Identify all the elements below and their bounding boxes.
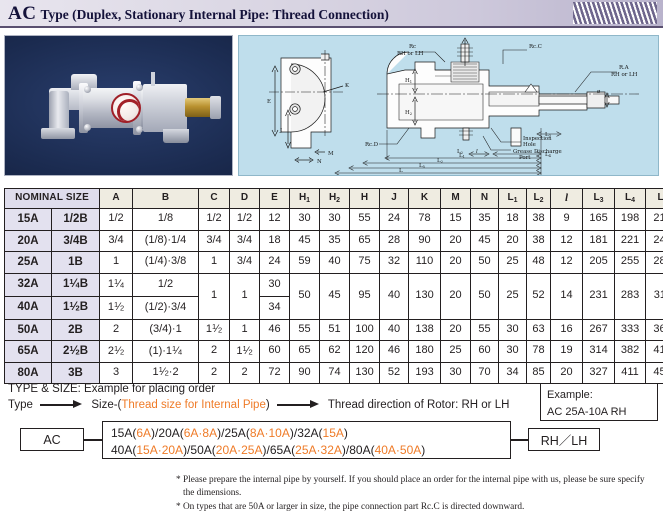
page-title-text: Type (Duplex, Stationary Internal Pipe: …	[40, 7, 388, 22]
drawing-label-k: K	[345, 83, 350, 89]
col-header-e: E	[260, 189, 290, 209]
size-bore: 20A·25A	[216, 443, 263, 457]
drawing-label-j: J	[279, 128, 282, 134]
col-header-h2: H2	[320, 189, 350, 209]
cell-b: (1)·11⁄4	[133, 341, 199, 363]
drawing-label-l1: L1	[459, 153, 465, 159]
cell-m: 30	[441, 362, 471, 384]
order-size-line-2: 40A(15A·20A)/50A(20A·25A)/65A(25A·32A)/8…	[111, 442, 510, 459]
cell-j: 46	[380, 341, 409, 363]
cell-k: 193	[409, 362, 441, 384]
cell-j: 40	[380, 319, 409, 341]
cell-nominal-b: 11⁄2B	[52, 296, 100, 319]
order-type-box: AC	[20, 428, 84, 451]
cell-k: 78	[409, 209, 441, 231]
arrow-right-icon	[277, 400, 321, 409]
product-photo	[4, 35, 233, 176]
cell-l5: 419	[646, 341, 663, 363]
cell-c: 1	[199, 252, 230, 274]
table-body: 15A 1/2B 1/2 1/8 1/2 1/2 12 30 30 55 24 …	[5, 209, 663, 384]
drawing-label-l2: L2	[437, 158, 443, 164]
size-bore: 40A·50A	[375, 443, 422, 457]
size-item: 25A	[224, 426, 245, 440]
cell-b: 1/2	[133, 273, 199, 296]
cell-d: 3/4	[230, 230, 260, 252]
cell-ell: 14	[551, 273, 583, 319]
cell-e: 34	[260, 296, 290, 319]
order-section-title: TYPE & SIZE: Example for placing order	[8, 383, 215, 395]
col-header-a: A	[100, 189, 133, 209]
size-bore: 15A·20A	[136, 443, 183, 457]
cell-b: 11⁄2·2	[133, 362, 199, 384]
drawing-label-m: M	[328, 151, 334, 157]
cell-l3: 231	[583, 273, 615, 319]
photo-bolt	[136, 84, 143, 91]
cell-k: 90	[409, 230, 441, 252]
photo-rear-body	[143, 84, 187, 132]
order-flow-size-prefix: Size-(	[91, 399, 121, 411]
order-flow-size-suffix: )	[266, 399, 270, 411]
cell-l5: 311	[646, 273, 663, 319]
cell-l1: 34	[499, 362, 527, 384]
cell-nominal-b: 1/2B	[52, 209, 100, 231]
cell-l2: 63	[527, 319, 551, 341]
page-header: AC Type (Duplex, Stationary Internal Pip…	[0, 0, 663, 28]
cell-l4: 411	[615, 362, 646, 384]
cell-e: 60	[260, 341, 290, 363]
cell-e: 18	[260, 230, 290, 252]
cell-a: 1	[100, 252, 133, 274]
cell-nominal-a: 25A	[5, 252, 52, 274]
cell-b: 1/8	[133, 209, 199, 231]
col-header-h1: H1	[290, 189, 320, 209]
cell-nominal-b: 21⁄2B	[52, 341, 100, 363]
cell-e: 72	[260, 362, 290, 384]
cell-e: 30	[260, 273, 290, 296]
example-value: AC 25A-10A RH	[547, 404, 657, 421]
size-bore: 15A	[323, 426, 344, 440]
cell-nominal-a: 20A	[5, 230, 52, 252]
drawing-label-rc: Rc	[409, 44, 416, 50]
cell-j: 32	[380, 252, 409, 274]
size-item: 50A	[190, 443, 211, 457]
drawing-label-rc-rh-lh: RH or LH	[397, 51, 424, 57]
cell-h: 130	[350, 362, 380, 384]
cell-h: 95	[350, 273, 380, 319]
cell-j: 40	[380, 273, 409, 319]
cell-l3: 267	[583, 319, 615, 341]
cell-j: 52	[380, 362, 409, 384]
technical-drawing: K E J M N Rc.C Rc RH or LH Rc.D R.A RH o…	[238, 35, 659, 176]
cell-b: (1/2)·3/4	[133, 296, 199, 319]
cell-b: (3/4)·1	[133, 319, 199, 341]
cell-l2: 38	[527, 230, 551, 252]
cell-l2: 52	[527, 273, 551, 319]
cell-h1: 50	[290, 273, 320, 319]
cell-l2: 78	[527, 341, 551, 363]
cell-a: 11⁄4	[100, 273, 133, 296]
table-row: 32A 11⁄4B 11⁄4 1/2 1 1 30 50 45 95 40 13…	[5, 273, 663, 296]
drawing-label-e: E	[267, 99, 271, 105]
cell-l5: 280	[646, 252, 663, 274]
size-bore: 6A·8A	[184, 426, 217, 440]
cell-a: 21⁄2	[100, 341, 133, 363]
cell-a: 3/4	[100, 230, 133, 252]
col-header-l3: L3	[583, 189, 615, 209]
cell-nominal-b: 11⁄4B	[52, 273, 100, 296]
photo-grease-pin	[151, 72, 155, 86]
cell-l5: 361	[646, 319, 663, 341]
cell-nominal-b: 1B	[52, 252, 100, 274]
cell-m: 20	[441, 319, 471, 341]
cell-h1: 55	[290, 319, 320, 341]
specification-table: NOMINAL SIZE A B C D E H1 H2 H J K M N L…	[4, 188, 663, 384]
cell-h1: 65	[290, 341, 320, 363]
photo-base-flange	[163, 129, 189, 143]
drawing-label-l: L	[399, 168, 403, 174]
col-header-n: N	[471, 189, 499, 209]
col-header-ell: l	[551, 189, 583, 209]
cell-l1: 30	[499, 319, 527, 341]
cell-h: 65	[350, 230, 380, 252]
drawing-label-inspection-hole-2: Hole	[523, 142, 536, 148]
cell-l3: 181	[583, 230, 615, 252]
table-row: 50A 2B 2 (3/4)·1 11⁄2 1 46 55 51 100 40 …	[5, 319, 663, 341]
cell-h2: 40	[320, 252, 350, 274]
table-row: 80A 3B 3 11⁄2·2 2 2 72 90 74 130 52 193 …	[5, 362, 663, 384]
type-code: AC	[8, 3, 36, 24]
cell-m: 15	[441, 209, 471, 231]
order-flow-direction: Thread direction of Rotor: RH or LH	[328, 399, 510, 411]
order-size-box: 15A(6A)/20A(6A·8A)/25A(8A·10A)/32A(15A) …	[102, 421, 511, 459]
cell-c: 11⁄2	[199, 319, 230, 341]
page-title: AC Type (Duplex, Stationary Internal Pip…	[8, 3, 389, 25]
photo-bolt	[136, 126, 143, 133]
cell-l4: 221	[615, 230, 646, 252]
cell-d: 1	[230, 319, 260, 341]
cell-nominal-a: 65A	[5, 341, 52, 363]
cell-a: 1/2	[100, 209, 133, 231]
cell-h2: 74	[320, 362, 350, 384]
cell-b: (1/4)·3/8	[133, 252, 199, 274]
cell-h2: 30	[320, 209, 350, 231]
order-example-section: TYPE & SIZE: Example for placing order T…	[6, 383, 657, 473]
cell-h1: 30	[290, 209, 320, 231]
cell-m: 25	[441, 341, 471, 363]
cell-j: 24	[380, 209, 409, 231]
cell-n: 70	[471, 362, 499, 384]
cell-c: 2	[199, 341, 230, 363]
size-item: 15A	[111, 426, 132, 440]
cell-k: 110	[409, 252, 441, 274]
cell-ell: 12	[551, 252, 583, 274]
cell-m: 20	[441, 230, 471, 252]
col-header-l4: L4	[615, 189, 646, 209]
cell-n: 50	[471, 252, 499, 274]
col-header-l2: L2	[527, 189, 551, 209]
col-header-l1: L1	[499, 189, 527, 209]
size-bore: 8A·10A	[250, 426, 290, 440]
col-header-d: D	[230, 189, 260, 209]
cell-nominal-a: 50A	[5, 319, 52, 341]
cell-l1: 25	[499, 273, 527, 319]
col-header-k: K	[409, 189, 441, 209]
drawing-label-ell: l	[476, 149, 478, 155]
cell-nominal-b: 2B	[52, 319, 100, 341]
order-flow-size-orange: Thread size for Internal Pipe	[121, 399, 265, 411]
cell-m: 20	[441, 252, 471, 274]
size-bore: 6A	[136, 426, 151, 440]
cell-l1: 30	[499, 341, 527, 363]
col-header-nominal-size: NOMINAL SIZE	[5, 189, 100, 209]
cell-h: 55	[350, 209, 380, 231]
cell-m: 20	[441, 273, 471, 319]
cell-b: (1/8)·1/4	[133, 230, 199, 252]
cell-l4: 283	[615, 273, 646, 319]
cell-h1: 59	[290, 252, 320, 274]
col-header-h: H	[350, 189, 380, 209]
cell-k: 138	[409, 319, 441, 341]
cell-l1: 18	[499, 209, 527, 231]
drawing-label-l3: L3	[545, 132, 552, 138]
cell-e: 24	[260, 252, 290, 274]
example-title: Example:	[547, 387, 657, 404]
cell-a: 11⁄2	[100, 296, 133, 319]
cell-h1: 90	[290, 362, 320, 384]
cell-nominal-a: 40A	[5, 296, 52, 319]
cell-k: 180	[409, 341, 441, 363]
cell-ell: 12	[551, 230, 583, 252]
cell-n: 45	[471, 230, 499, 252]
cell-h2: 51	[320, 319, 350, 341]
table-row: 20A 3/4B 3/4 (1/8)·1/4 3/4 3/4 18 45 35 …	[5, 230, 663, 252]
col-header-c: C	[199, 189, 230, 209]
drawing-label-rc-c: Rc.C	[529, 44, 542, 50]
cell-l3: 314	[583, 341, 615, 363]
cell-h: 120	[350, 341, 380, 363]
drawing-label-ra: R.A	[619, 65, 629, 71]
cell-nominal-a: 15A	[5, 209, 52, 231]
footnotes: * Please prepare the internal pipe by yo…	[176, 474, 658, 512]
cell-ell: 20	[551, 362, 583, 384]
size-item: 40A	[111, 443, 132, 457]
photo-bolt	[84, 124, 91, 131]
table-row: 25A 1B 1 (1/4)·3/8 1 3/4 24 59 40 75 32 …	[5, 252, 663, 274]
footnote-item: * Please prepare the internal pipe by yo…	[176, 474, 658, 500]
cell-h: 100	[350, 319, 380, 341]
drawing-label-ra-rh-lh: RH or LH	[611, 72, 638, 78]
cell-l4: 255	[615, 252, 646, 274]
cell-nominal-b: 3B	[52, 362, 100, 384]
cell-l5: 245	[646, 230, 663, 252]
photo-shaft-tip	[210, 96, 221, 119]
footnote-item: * On types that are 50A or larger in siz…	[176, 501, 658, 512]
order-example-box: Example: AC 25A-10A RH	[540, 383, 658, 421]
cell-l3: 165	[583, 209, 615, 231]
cell-h2: 62	[320, 341, 350, 363]
cell-d: 11⁄2	[230, 341, 260, 363]
cell-n: 60	[471, 341, 499, 363]
order-direction-box: RH／LH	[528, 428, 600, 451]
col-header-l5: L5	[646, 189, 663, 209]
cell-l5: 218	[646, 209, 663, 231]
drawing-label-l5: L5	[419, 163, 426, 169]
drawing-label-n: N	[317, 159, 322, 165]
cell-h2: 35	[320, 230, 350, 252]
cell-h1: 45	[290, 230, 320, 252]
order-flow: Type Size-(Thread size for Internal Pipe…	[8, 399, 509, 411]
cell-a: 2	[100, 319, 133, 341]
cell-l3: 327	[583, 362, 615, 384]
drawing-label-grease-port-2: Port	[519, 155, 531, 161]
cell-d: 2	[230, 362, 260, 384]
cell-ell: 9	[551, 209, 583, 231]
col-header-b: B	[133, 189, 199, 209]
cell-l3: 205	[583, 252, 615, 274]
cell-c: 3/4	[199, 230, 230, 252]
arrow-right-icon	[40, 400, 84, 409]
cell-e: 46	[260, 319, 290, 341]
cell-l1: 25	[499, 252, 527, 274]
cell-ell: 19	[551, 341, 583, 363]
cell-nominal-b: 3/4B	[52, 230, 100, 252]
cell-e: 12	[260, 209, 290, 231]
cell-ell: 16	[551, 319, 583, 341]
cell-j: 28	[380, 230, 409, 252]
table-row: 65A 21⁄2B 21⁄2 (1)·11⁄4 2 11⁄2 60 65 62 …	[5, 341, 663, 363]
cell-l4: 382	[615, 341, 646, 363]
cell-l4: 333	[615, 319, 646, 341]
cell-l2: 48	[527, 252, 551, 274]
cell-n: 55	[471, 319, 499, 341]
cell-l2: 38	[527, 209, 551, 231]
size-item: 20A	[158, 426, 179, 440]
order-size-line-1: 15A(6A)/20A(6A·8A)/25A(8A·10A)/32A(15A)	[111, 425, 510, 442]
cell-c: 2	[199, 362, 230, 384]
datasheet-page: AC Type (Duplex, Stationary Internal Pip…	[0, 0, 663, 512]
cell-l5: 459	[646, 362, 663, 384]
cell-n: 35	[471, 209, 499, 231]
size-item: 80A	[349, 443, 370, 457]
cell-d: 3/4	[230, 252, 260, 274]
size-bore: 25A·32A	[295, 443, 342, 457]
connector-line	[84, 439, 102, 441]
cell-c: 1	[199, 273, 230, 319]
size-item: 32A	[297, 426, 318, 440]
drawing-label-rc-d: Rc.D	[365, 142, 379, 148]
size-item: 65A	[270, 443, 291, 457]
connector-line	[511, 439, 528, 441]
specification-table-wrapper: NOMINAL SIZE A B C D E H1 H2 H J K M N L…	[4, 188, 659, 384]
cell-a: 3	[100, 362, 133, 384]
cell-d: 1/2	[230, 209, 260, 231]
header-stripe-decoration	[573, 2, 657, 24]
cell-l4: 198	[615, 209, 646, 231]
cell-h2: 45	[320, 273, 350, 319]
cell-k: 130	[409, 273, 441, 319]
col-header-m: M	[441, 189, 471, 209]
cell-d: 1	[230, 273, 260, 319]
cell-l1: 20	[499, 230, 527, 252]
cell-nominal-a: 32A	[5, 273, 52, 296]
cell-c: 1/2	[199, 209, 230, 231]
order-flow-type: Type	[8, 399, 33, 411]
cell-nominal-a: 80A	[5, 362, 52, 384]
photo-bolt	[84, 86, 91, 93]
table-row: 15A 1/2B 1/2 1/8 1/2 1/2 12 30 30 55 24 …	[5, 209, 663, 231]
photo-elbow-flange	[41, 128, 75, 139]
table-header-row: NOMINAL SIZE A B C D E H1 H2 H J K M N L…	[5, 189, 663, 209]
cell-h: 75	[350, 252, 380, 274]
cell-n: 50	[471, 273, 499, 319]
cell-l2: 85	[527, 362, 551, 384]
col-header-j: J	[380, 189, 409, 209]
photo-brand-label	[111, 93, 141, 123]
